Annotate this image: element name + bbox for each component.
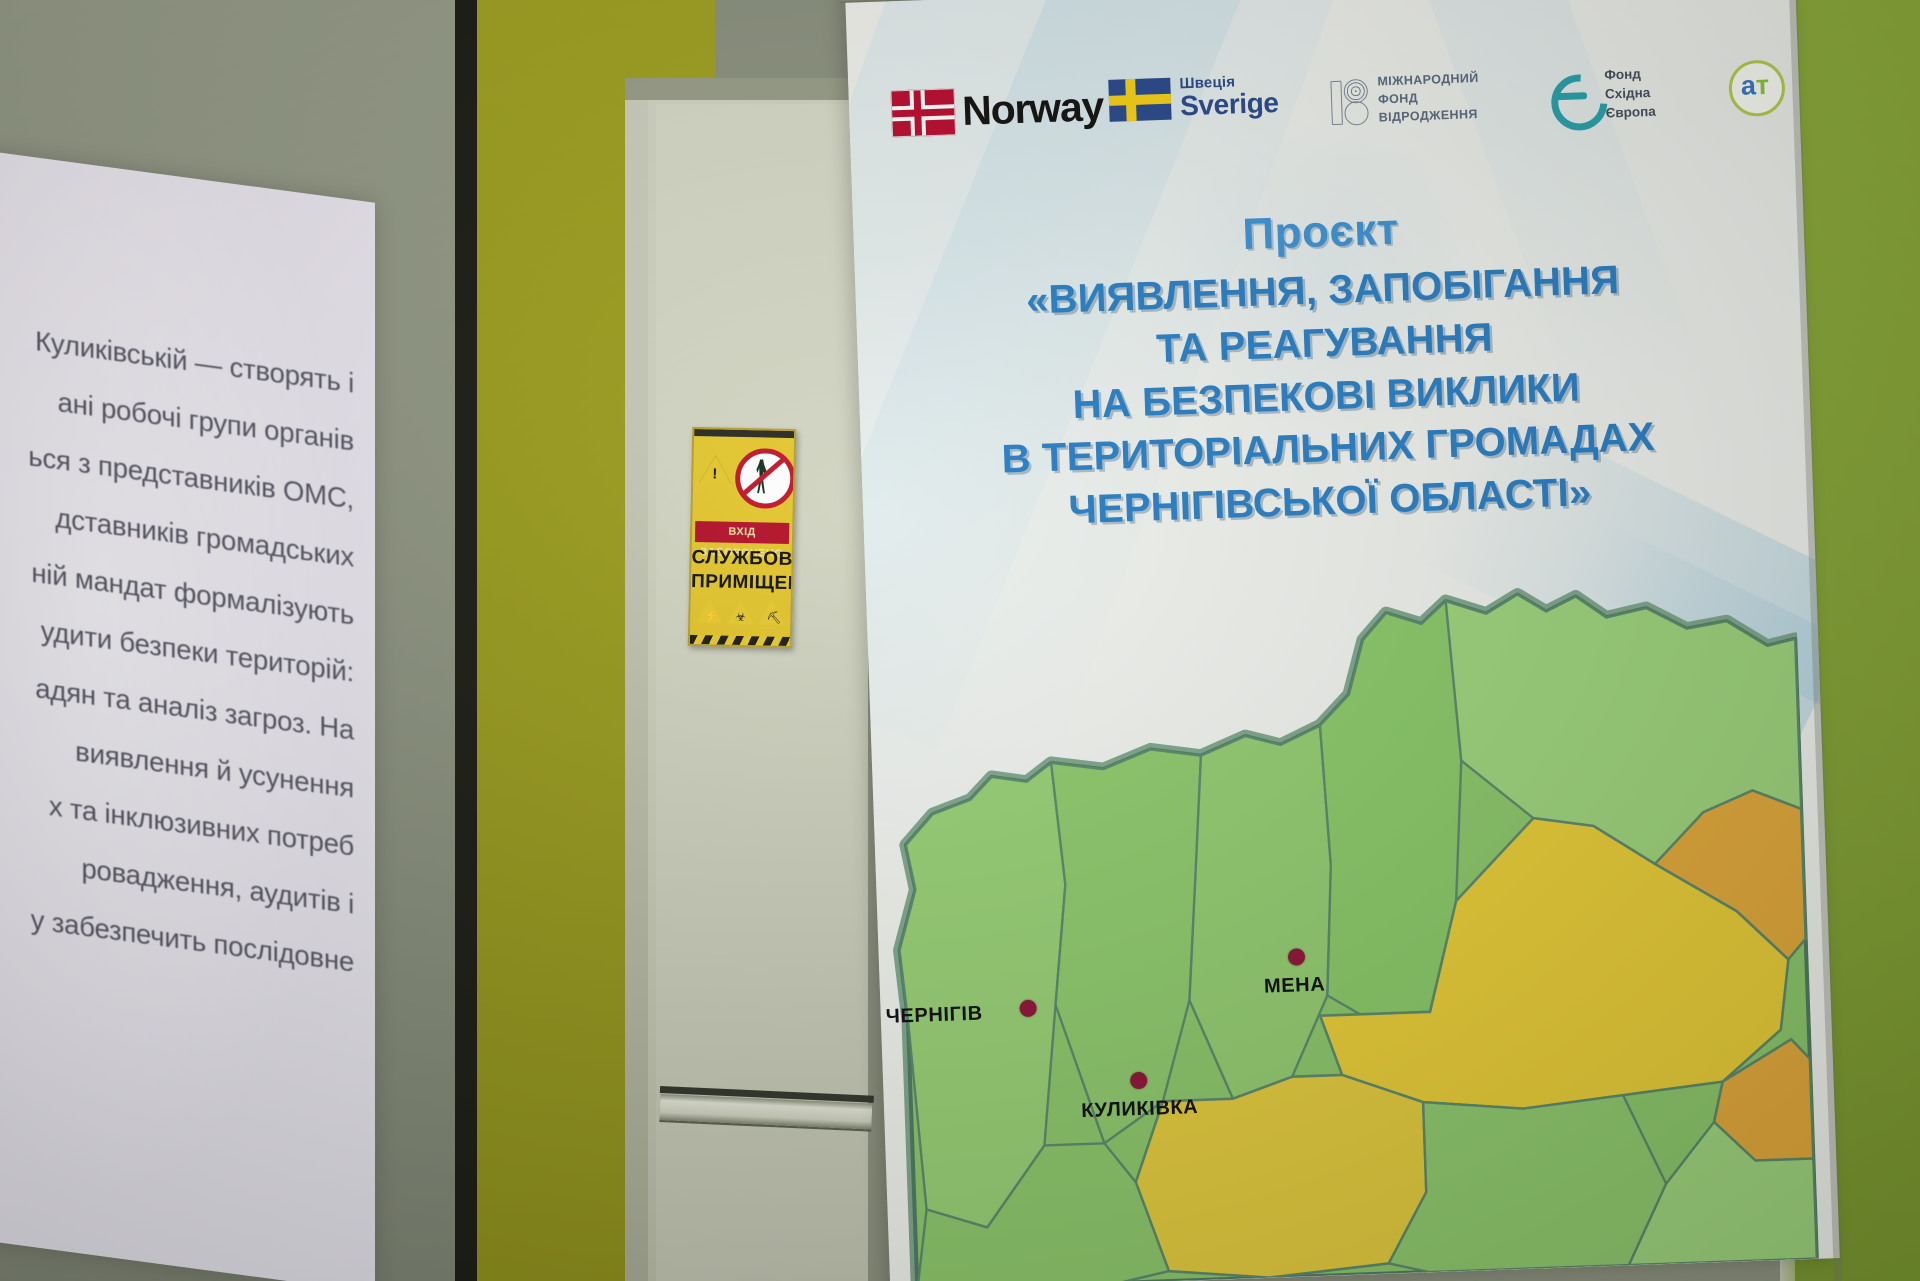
logo-sweden: Швеція Sverige (1108, 73, 1279, 123)
no-entry-safety-sign: ВХІД ЗАБОРОНЕНО СЛУЖБОВЕ ПРИМІЩЕННЯ ⚡ ☣ … (688, 427, 797, 648)
rollup-banner: Norway Швеція Sverige МІЖНАРОДНИЙ ФОНД (845, 0, 1795, 1281)
banner-title-block: Проєкт «ВИЯВЛЕННЯ, ЗАПОБІГАННЯ ТА РЕАГУВ… (845, 191, 1806, 545)
ath-circle-icon: ат (1728, 59, 1786, 117)
sign-line-1: СЛУЖБОВЕ (691, 547, 791, 571)
sign-pictogram-row (692, 441, 794, 521)
door-header-shadow (625, 78, 865, 100)
sign-top-bar (694, 429, 794, 438)
electric-hazard-icon: ⚡ (696, 599, 722, 624)
sweden-label-sv: Sverige (1180, 89, 1279, 120)
logo-ath: ат (1728, 59, 1786, 117)
logo-east-europe-foundation: Фонд Східна Європа (1548, 64, 1656, 125)
chernihiv-map-svg (845, 559, 1819, 1281)
biohazard-icon: ☣ (727, 600, 753, 625)
city-label-chernihiv: ЧЕРНІГІВ (885, 1002, 983, 1028)
sign-hazard-triangles: ⚡ ☣ ⛏ (696, 599, 785, 631)
sign-line-2: ПРИМІЩЕННЯ (691, 571, 791, 595)
norway-wordmark: Norway (961, 83, 1103, 135)
irf-mark-icon (1328, 77, 1372, 124)
wall-dark-seam (455, 0, 477, 1281)
photo-scene: Куликівській — створять і ані робочі гру… (0, 0, 1920, 1281)
irf-line-1: МІЖНАРОДНИЙ (1377, 70, 1479, 91)
sign-hazard-stripe (690, 635, 790, 646)
map-region: ЧЕРНІГІВ МЕНА КУЛИКІВКА (845, 559, 1819, 1281)
norway-flag-icon (890, 88, 956, 137)
logo-norway: Norway (890, 83, 1103, 137)
eef-e-icon (1548, 72, 1598, 120)
sign-red-band: ВХІД ЗАБОРОНЕНО (695, 521, 789, 544)
sweden-flag-icon (1108, 78, 1171, 122)
no-pedestrian-icon (735, 448, 796, 509)
city-label-mena: МЕНА (1264, 973, 1326, 998)
irf-line-3: ВІДРОДЖЕННЯ (1378, 105, 1480, 126)
eef-line-3: Європа (1605, 102, 1656, 123)
eef-line-2: Східна (1605, 83, 1656, 104)
machinery-hazard-icon: ⛏ (758, 600, 784, 625)
slide-text-block: Куликівській — створять і ані робочі гру… (0, 320, 354, 1006)
logo-irf: МІЖНАРОДНИЙ ФОНД ВІДРОДЖЕННЯ (1328, 70, 1480, 128)
city-label-kulykivka: КУЛИКІВКА (1081, 1096, 1199, 1123)
warning-triangle-icon (699, 455, 732, 484)
eef-line-1: Фонд (1604, 64, 1655, 85)
